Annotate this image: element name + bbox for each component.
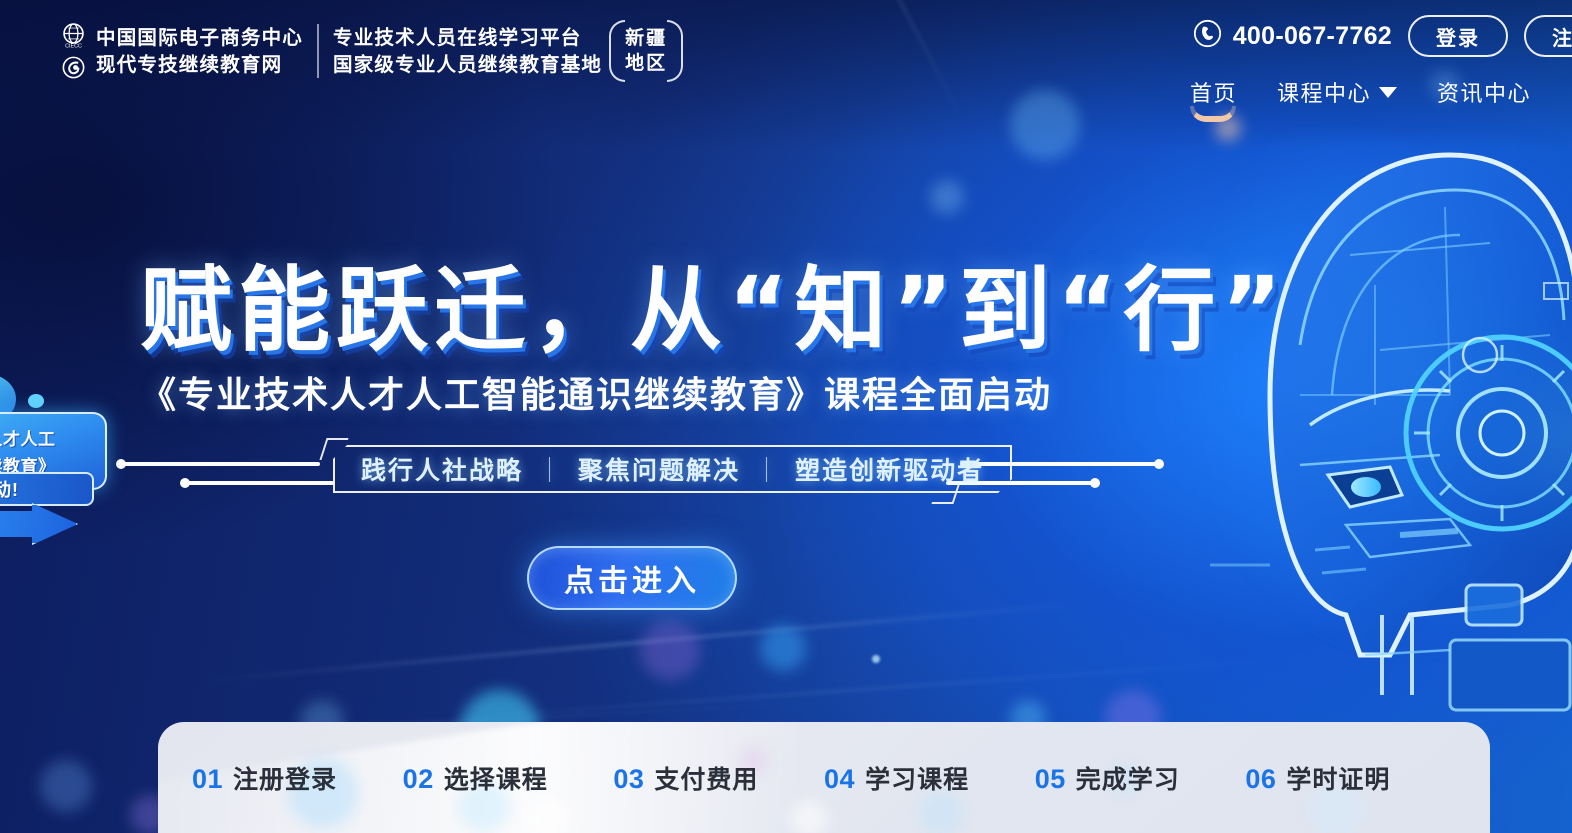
step-item[interactable]: 04 学习课程: [824, 760, 1035, 796]
main-nav: 首页 课程中心 资讯中心 关于: [1190, 76, 1572, 108]
brand-line-2: 现代专技继续教育网: [96, 53, 303, 77]
floating-promo-badge[interactable]: 《专业技术人才人工 智能通识继续教育》 课程全面启动! 点击查看: [0, 378, 118, 528]
tagline-sep: ｜: [537, 451, 564, 487]
step-label: 完成学习: [1076, 760, 1180, 796]
badge-line-3: 课程全面启动!: [0, 476, 19, 502]
hero-banner-page: CIECC 中国国际电子商务中心 现代专技继续教育网 专业技术人员在线学习平台: [0, 0, 1572, 833]
tagline-item-1: 践行人社战略: [361, 451, 523, 487]
brand-sub-1: 专业技术人员在线学习平台: [333, 26, 602, 50]
step-number: 06: [1245, 764, 1276, 795]
step-number: 03: [613, 764, 644, 795]
nav-item-course-center[interactable]: 课程中心: [1277, 76, 1397, 108]
phone-number: 400-067-7762: [1233, 22, 1392, 51]
header-actions: 400-067-7762 登录 注册: [1193, 15, 1572, 57]
step-number: 04: [824, 764, 855, 795]
right-paren: [667, 20, 683, 82]
nav-item-home[interactable]: 首页: [1190, 76, 1237, 108]
brand-sub-2: 国家级专业人员继续教育基地: [333, 53, 602, 77]
badge-line-1: 《专业技术人才人工: [0, 425, 105, 450]
bokeh-dot: [40, 760, 92, 812]
bokeh-dot: [760, 625, 806, 671]
badge-highlight-bar: 课程全面启动!: [0, 472, 94, 506]
nav-label: 首页: [1190, 76, 1237, 108]
badge-blob-small: [28, 394, 44, 408]
svg-text:CIECC: CIECC: [65, 43, 82, 48]
step-item[interactable]: 01 注册登录: [192, 760, 403, 796]
step-label: 注册登录: [233, 760, 337, 796]
decor-dot: [180, 478, 190, 488]
brand-block: CIECC 中国国际电子商务中心 现代专技继续教育网 专业技术人员在线学习平台: [60, 20, 681, 82]
nav-item-news-center[interactable]: 资讯中心: [1437, 76, 1531, 108]
step-item[interactable]: 05 完成学习: [1035, 760, 1246, 796]
decor-dot: [1090, 478, 1100, 488]
bokeh-dot: [872, 655, 880, 663]
brand-line-1: 中国国际电子商务中心: [96, 26, 303, 50]
ciecc-globe-icon: CIECC: [60, 22, 87, 49]
step-number: 01: [192, 764, 223, 795]
step-label: 学时证明: [1286, 760, 1390, 796]
tagline-item-2: 聚焦问题解决: [578, 451, 740, 487]
ai-robot-head-illustration: [1150, 95, 1572, 715]
step-label: 学习课程: [865, 760, 969, 796]
register-button[interactable]: 注册: [1524, 15, 1572, 57]
step-label: 选择课程: [444, 760, 548, 796]
brand-logos: CIECC: [60, 22, 87, 81]
region-line-1: 新疆: [625, 27, 667, 51]
site-header: CIECC 中国国际电子商务中心 现代专技继续教育网 专业技术人员在线学习平台: [0, 0, 1572, 120]
step-item[interactable]: 03 支付费用: [613, 760, 824, 796]
left-paren: [609, 20, 625, 82]
robot-svg: [1150, 95, 1572, 715]
nav-label: 资讯中心: [1437, 76, 1531, 108]
tagline-block: 践行人社战略 ｜ 聚焦问题解决 ｜ 塑造创新驱动者: [120, 440, 1160, 502]
hotline: 400-067-7762: [1193, 19, 1392, 53]
chevron-down-icon: [1379, 87, 1397, 98]
nav-active-indicator: [1190, 106, 1236, 122]
tagline-item-3: 塑造创新驱动者: [795, 451, 984, 487]
region-badge: 新疆 地区: [611, 20, 681, 82]
bokeh-dot: [930, 180, 964, 214]
steps-list: 01 注册登录 02 选择课程 03 支付费用 04 学习课程 05 完成学习 …: [158, 722, 1490, 833]
step-number: 05: [1035, 764, 1066, 795]
enter-button-label: 点击进入: [564, 556, 700, 600]
nav-label: 课程中心: [1277, 76, 1371, 108]
decor-line: [184, 481, 334, 485]
region-text: 新疆 地区: [625, 27, 667, 76]
hero-subline: 《专业技术人才人工智能通识继续教育》课程全面启动: [140, 366, 1052, 418]
decor-dot: [1154, 459, 1164, 469]
login-button[interactable]: 登录: [1408, 15, 1508, 57]
brand-divider: [317, 24, 319, 78]
swirl-icon: [60, 54, 87, 81]
bokeh-dot: [640, 620, 700, 680]
brand-subtitles: 专业技术人员在线学习平台 国家级专业人员继续教育基地: [333, 26, 602, 77]
step-label: 支付费用: [654, 760, 758, 796]
hero-headline: 赋能跃迁，从“知”到“行”: [140, 236, 1288, 369]
tagline-sep: ｜: [754, 451, 781, 487]
tagline-box: 践行人社战略 ｜ 聚焦问题解决 ｜ 塑造创新驱动者: [333, 445, 1012, 493]
region-line-2: 地区: [625, 52, 667, 76]
step-item[interactable]: 06 学时证明: [1245, 760, 1456, 796]
enter-button[interactable]: 点击进入: [527, 546, 737, 610]
step-item[interactable]: 02 选择课程: [403, 760, 614, 796]
step-number: 02: [403, 764, 434, 795]
brand-names: 中国国际电子商务中心 现代专技继续教育网: [96, 26, 303, 77]
phone-icon: [1193, 19, 1222, 53]
process-steps-bar: 01 注册登录 02 选择课程 03 支付费用 04 学习课程 05 完成学习 …: [158, 722, 1490, 833]
decor-line: [120, 462, 320, 466]
